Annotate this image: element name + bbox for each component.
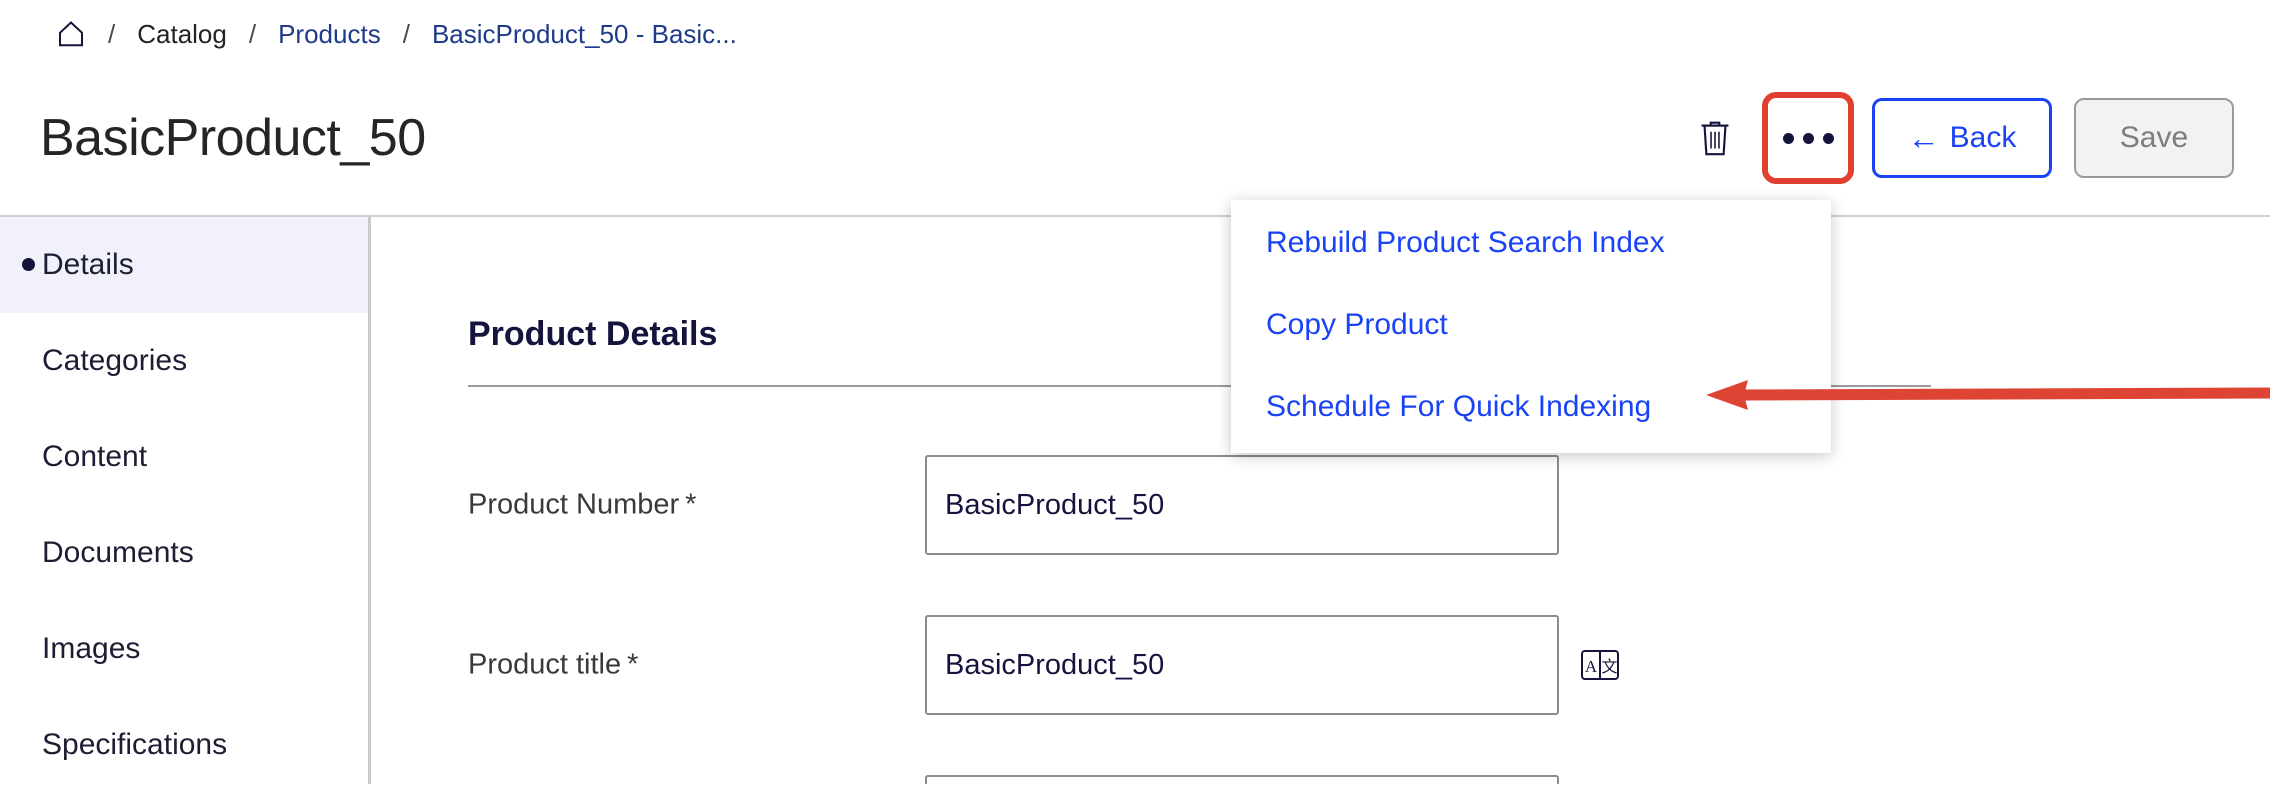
breadcrumb-separator-0: / (108, 21, 115, 47)
sidebar-item-label: Specifications (42, 728, 227, 762)
breadcrumb-item-current[interactable]: BasicProduct_50 - Basic... (410, 21, 759, 47)
form-row-product-title: Product title* A 文 (374, 615, 2270, 715)
breadcrumb-separator-2: / (403, 21, 410, 47)
sidebar-item-categories[interactable]: Categories (0, 313, 368, 409)
sidebar-item-documents[interactable]: Documents (0, 505, 368, 601)
more-actions-button[interactable] (1762, 92, 1854, 184)
breadcrumb-item-catalog[interactable]: Catalog (115, 21, 249, 47)
product-number-label: Product Number* (468, 489, 696, 522)
breadcrumb-home[interactable] (34, 19, 108, 49)
sidebar-item-label: Images (42, 632, 140, 666)
svg-text:A: A (1585, 657, 1598, 676)
translate-icon-product-title[interactable]: A 文 (1581, 650, 1619, 680)
product-title-input[interactable] (925, 615, 1559, 715)
back-arrow-icon: ← (1908, 122, 1940, 154)
menu-item-schedule-for-quick-indexing[interactable]: Schedule For Quick Indexing (1266, 392, 1651, 422)
sidebar-item-label: Content (42, 440, 147, 474)
trash-icon (1698, 118, 1732, 158)
sidebar-item-content[interactable]: Content (0, 409, 368, 505)
sidebar-item-label: Documents (42, 536, 194, 570)
ellipsis-icon (1783, 133, 1834, 144)
header-actions: ← Back Save (1678, 92, 2234, 184)
product-number-input[interactable] (925, 455, 1559, 555)
delete-button[interactable] (1678, 99, 1752, 177)
required-marker: * (627, 649, 638, 681)
more-actions-menu: Rebuild Product Search Index Copy Produc… (1231, 200, 1831, 453)
section-title: Product Details (468, 317, 717, 351)
sidebar-item-label: Categories (42, 344, 187, 378)
page-title: BasicProduct_50 (40, 112, 426, 164)
back-button[interactable]: ← Back (1872, 98, 2052, 178)
breadcrumb-separator-1: / (249, 21, 256, 47)
active-bullet-icon (22, 258, 35, 271)
menu-item-rebuild-product-search-index[interactable]: Rebuild Product Search Index (1266, 228, 1665, 258)
required-marker: * (685, 489, 696, 521)
sidebar-item-label: Details (42, 248, 134, 282)
home-icon (56, 19, 86, 49)
breadcrumb: / Catalog / Products / BasicProduct_50 -… (34, 10, 759, 58)
save-button[interactable]: Save (2074, 98, 2234, 178)
sidebar-item-images[interactable]: Images (0, 601, 368, 697)
breadcrumb-item-products[interactable]: Products (256, 21, 403, 47)
url-segment-input[interactable] (925, 775, 1559, 784)
sidebar-item-details[interactable]: Details (0, 217, 368, 313)
form-row-product-number: Product Number* (374, 455, 2270, 555)
svg-text:文: 文 (1601, 657, 1617, 676)
product-title-label: Product title* (468, 649, 638, 682)
sidebar-item-specifications[interactable]: Specifications (0, 697, 368, 793)
back-button-label: Back (1950, 121, 2017, 155)
translate-icon: A 文 (1581, 650, 1619, 680)
menu-item-copy-product[interactable]: Copy Product (1266, 310, 1448, 340)
sidebar: Details Categories Content Documents Ima… (0, 217, 371, 784)
form-row-url-segment: Url Segment* A 文 (374, 775, 2270, 784)
